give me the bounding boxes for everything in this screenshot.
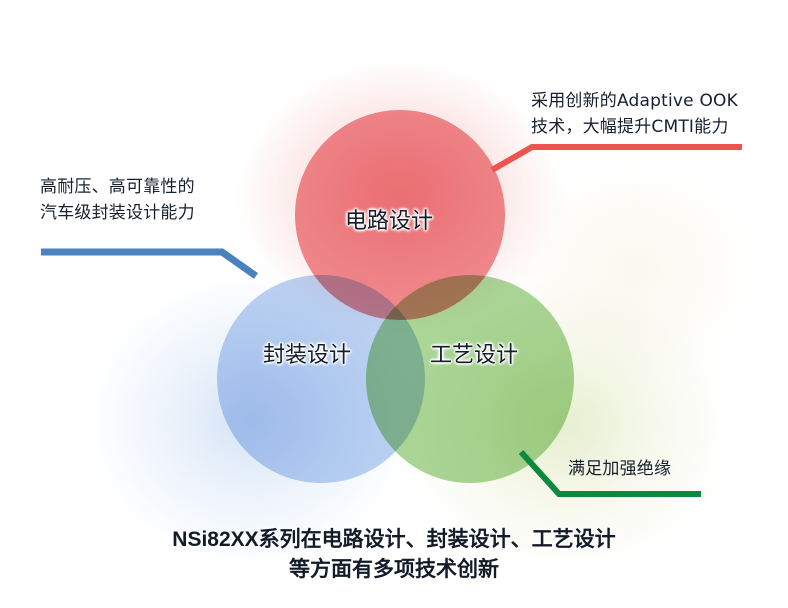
- callout-package-line-2: 汽车级封装设计能力: [40, 200, 195, 226]
- caption-line-1: NSi82XX系列在电路设计、封装设计、工艺设计: [0, 525, 788, 555]
- callout-process-design: 满足加强绝缘: [568, 456, 671, 482]
- venn-label-package-design: 封装设计: [263, 337, 351, 369]
- callout-package-line-1: 高耐压、高可靠性的: [40, 174, 195, 200]
- slide-caption: NSi82XX系列在电路设计、封装设计、工艺设计 等方面有多项技术创新: [0, 525, 788, 585]
- callout-circuit-line-1: 采用创新的Adaptive OOK: [531, 88, 738, 114]
- slide-canvas: 电路设计 封装设计 工艺设计 高耐压、高可靠性的 汽车级封装设计能力 采用创新的…: [0, 0, 788, 608]
- venn-circle-process-design[interactable]: [366, 275, 574, 483]
- callout-process-line-1: 满足加强绝缘: [568, 456, 671, 482]
- venn-label-circuit-design: 电路设计: [345, 203, 433, 235]
- callout-package-design: 高耐压、高可靠性的 汽车级封装设计能力: [40, 174, 195, 226]
- caption-line-2: 等方面有多项技术创新: [0, 555, 788, 585]
- callout-circuit-line-2: 技术，大幅提升CMTI能力: [531, 114, 738, 140]
- callout-circuit-design: 采用创新的Adaptive OOK 技术，大幅提升CMTI能力: [531, 88, 738, 140]
- venn-label-process-design: 工艺设计: [430, 337, 518, 369]
